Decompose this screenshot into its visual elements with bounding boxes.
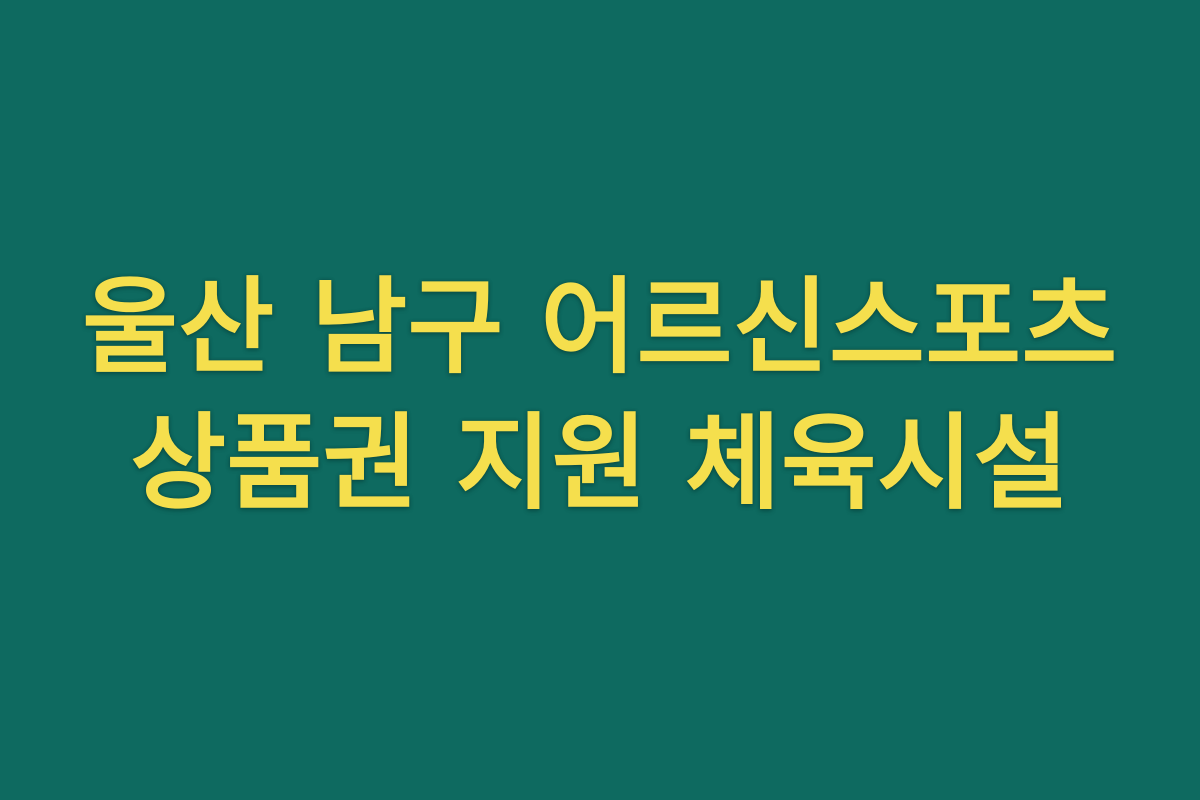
banner-title-line-2: 상품권 지원 체육시설 — [70, 397, 1130, 530]
banner-title-block: 울산 남구 어르신스포츠 상품권 지원 체육시설 — [70, 261, 1130, 529]
banner-title-line-1: 울산 남구 어르신스포츠 — [70, 261, 1130, 394]
og-banner: 울산 남구 어르신스포츠 상품권 지원 체육시설 — [0, 0, 1200, 800]
